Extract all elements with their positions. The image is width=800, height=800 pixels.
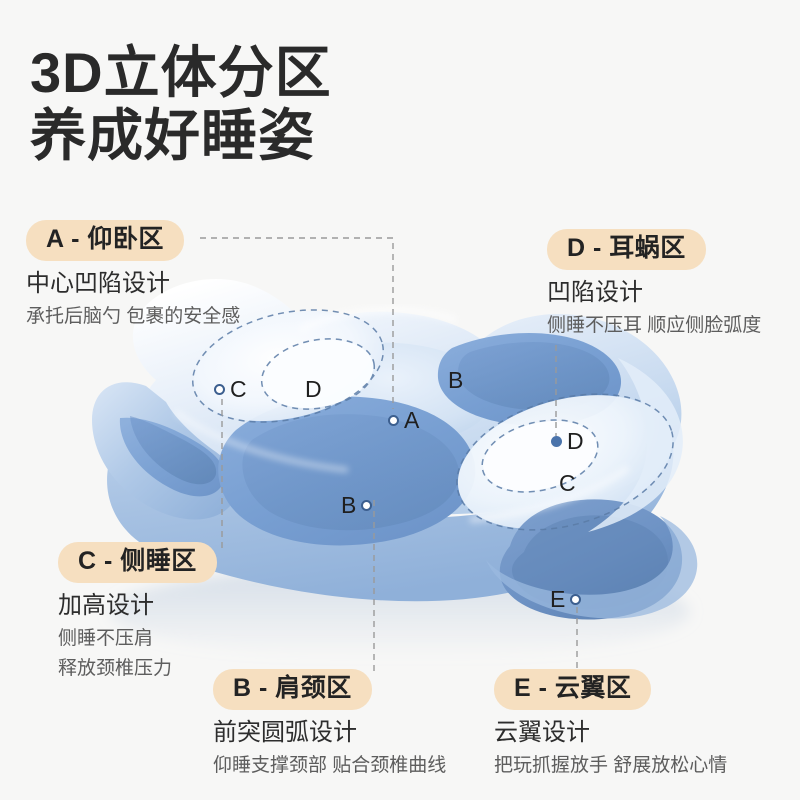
infographic-root: 3D立体分区 养成好睡姿	[0, 0, 800, 800]
callout-c-subline-1: 侧睡不压肩	[58, 626, 217, 651]
marker-label: D	[305, 378, 322, 401]
page-title: 3D立体分区 养成好睡姿	[30, 42, 450, 167]
callout-c-subline-2: 释放颈椎压力	[58, 656, 217, 681]
marker-dot-icon	[214, 384, 225, 395]
marker-label: E	[550, 588, 565, 611]
callout-c-badge: C - 侧睡区	[58, 542, 217, 583]
callout-c-headline: 加高设计	[58, 592, 217, 621]
marker-label: A	[404, 409, 419, 432]
callout-a: A - 仰卧区 中心凹陷设计 承托后脑勺 包裹的安全感	[26, 220, 240, 329]
callout-b: B - 肩颈区 前突圆弧设计 仰睡支撑颈部 贴合颈椎曲线	[213, 669, 446, 778]
callout-d: D - 耳蜗区 凹陷设计 侧睡不压耳 顺应侧脸弧度	[547, 229, 761, 338]
marker-label: B	[341, 494, 356, 517]
marker-c-right: C	[559, 472, 576, 495]
callout-e-headline: 云翼设计	[494, 719, 727, 748]
marker-b-front: B	[341, 494, 372, 517]
callout-e: E - 云翼区 云翼设计 把玩抓握放手 舒展放松心情	[494, 669, 727, 778]
marker-label: C	[559, 472, 576, 495]
callout-a-subline-1: 承托后脑勺 包裹的安全感	[26, 304, 240, 329]
callout-d-headline: 凹陷设计	[547, 279, 761, 308]
marker-label: C	[230, 378, 247, 401]
title-line-2: 养成好睡姿	[30, 105, 450, 168]
marker-label: D	[567, 430, 584, 453]
callout-b-subline-1: 仰睡支撑颈部 贴合颈椎曲线	[213, 753, 446, 778]
marker-a-center: A	[388, 409, 419, 432]
callout-d-subline-1: 侧睡不压耳 顺应侧脸弧度	[547, 313, 761, 338]
marker-label: B	[448, 369, 463, 392]
callout-d-badge: D - 耳蜗区	[547, 229, 706, 270]
marker-b-top: B	[448, 369, 463, 392]
marker-dot-icon	[361, 500, 372, 511]
marker-dot-icon	[388, 415, 399, 426]
title-line-1: 3D立体分区	[30, 42, 450, 105]
callout-a-badge: A - 仰卧区	[26, 220, 184, 261]
marker-d-left: D	[305, 378, 322, 401]
marker-c-left: C	[214, 378, 247, 401]
callout-c: C - 侧睡区 加高设计 侧睡不压肩 释放颈椎压力	[58, 542, 217, 681]
callout-a-headline: 中心凹陷设计	[26, 270, 240, 299]
callout-b-badge: B - 肩颈区	[213, 669, 372, 710]
marker-d-right: D	[551, 430, 584, 453]
callout-b-headline: 前突圆弧设计	[213, 719, 446, 748]
marker-dot-icon	[551, 436, 562, 447]
marker-dot-icon	[570, 594, 581, 605]
callout-e-subline-1: 把玩抓握放手 舒展放松心情	[494, 753, 727, 778]
marker-e-wing: E	[550, 588, 581, 611]
callout-e-badge: E - 云翼区	[494, 669, 651, 710]
